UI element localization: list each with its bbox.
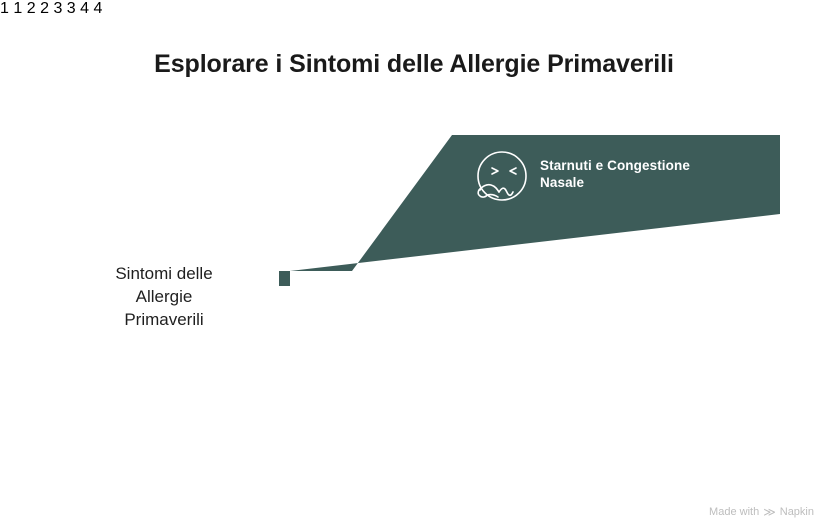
center-label-line-2: Allergie	[62, 285, 266, 308]
row-1-label-line-1: Starnuti e Congestione	[540, 157, 740, 174]
row-2-label: Prurito e Arrossamento degli Occhi	[540, 241, 740, 275]
row-2-label-line-2: degli Occhi	[540, 258, 740, 275]
center-circle-label: Sintomi delle Allergie Primaverili	[62, 262, 266, 331]
napkin-logo-icon: ≫	[763, 506, 776, 518]
row-4-label: Sintomi Respiratori	[540, 419, 740, 436]
watermark-prefix: Made with	[709, 506, 759, 518]
row-1-label-line-2: Nasale	[540, 174, 740, 191]
row-1-label: Starnuti e Congestione Nasale	[540, 157, 740, 191]
center-label-line-1: Sintomi delle	[62, 262, 266, 285]
watermark-brand: Napkin	[780, 506, 814, 518]
infographic-stage: Esplorare i Sintomi delle Allergie Prima…	[0, 0, 828, 528]
row-4-label-line-1: Sintomi Respiratori	[540, 419, 740, 436]
row-3-label: Rinorrea	[540, 335, 740, 352]
center-label-line-3: Primaverili	[62, 308, 266, 331]
napkin-watermark: Made with ≫ Napkin	[709, 506, 814, 518]
row-3-label-line-1: Rinorrea	[540, 335, 740, 352]
row-2-label-line-1: Prurito e Arrossamento	[540, 241, 740, 258]
